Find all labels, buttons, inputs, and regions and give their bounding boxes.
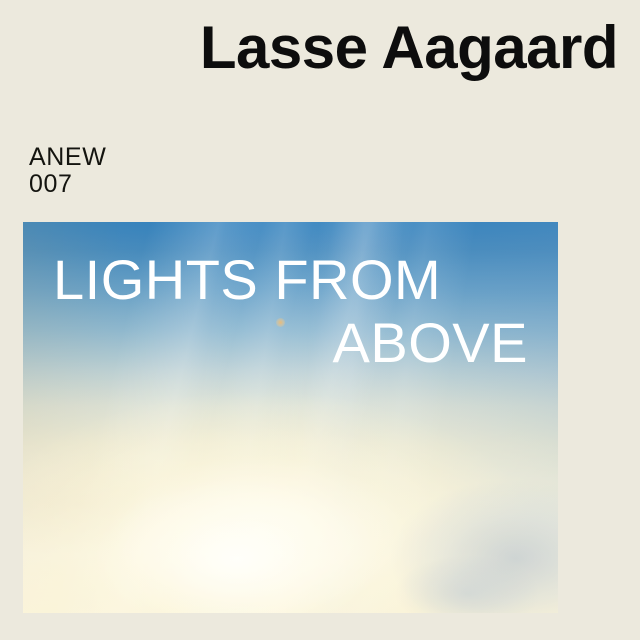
album-cover: Lasse Aagaard ANEW 007 LIGHTS FROM ABOVE <box>0 0 640 640</box>
artist-name: Lasse Aagaard <box>0 18 618 78</box>
film-softening-overlay <box>23 222 558 613</box>
catalog-label: ANEW <box>29 144 106 171</box>
catalog-block: ANEW 007 <box>29 144 106 198</box>
catalog-number: 007 <box>29 171 106 198</box>
cover-artwork-photo: LIGHTS FROM ABOVE <box>23 222 558 613</box>
